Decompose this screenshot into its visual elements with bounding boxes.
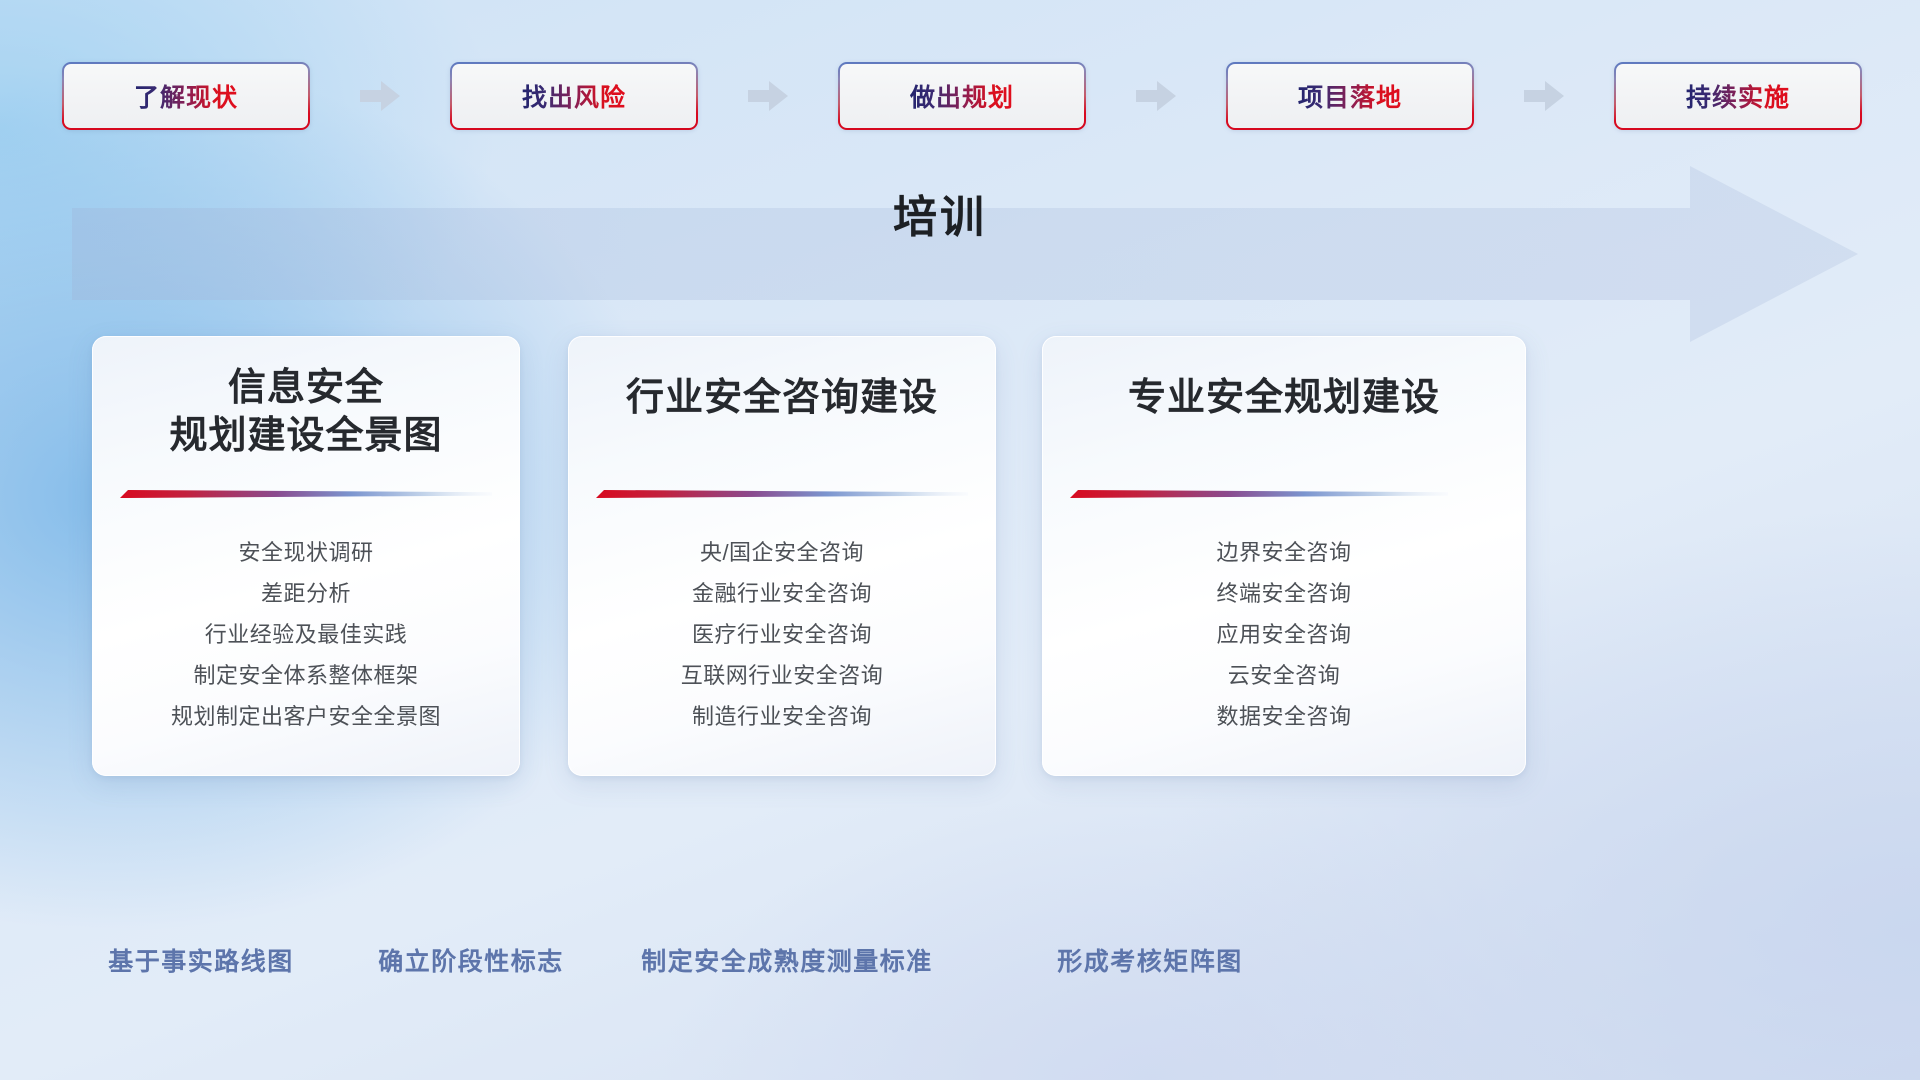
process-step-5-label: 持续实施 — [1686, 78, 1790, 114]
card-industry-security-consulting[interactable]: 行业安全咨询建设 央/国企安全咨询 金融行业安全咨询 — [568, 336, 996, 776]
banner-title: 培训 — [0, 172, 1880, 264]
list-item: 应用安全咨询 — [1042, 614, 1526, 655]
card-1-gradient-divider-icon — [120, 488, 492, 500]
card-information-security-blueprint[interactable]: 信息安全 规划建设全景图 安全现状调研 差距分析 行 — [92, 336, 520, 776]
list-item: 医疗行业安全咨询 — [568, 614, 996, 655]
process-step-5-inner: 持续实施 — [1616, 64, 1860, 128]
process-step-4-inner: 项目落地 — [1228, 64, 1472, 128]
card-3-gradient-divider-icon — [1070, 488, 1448, 500]
process-step-row: 了解现状 找出风险 做出规划 — [62, 58, 1862, 134]
card-3-title: 专业安全规划建设 — [1042, 374, 1526, 422]
process-step-1-label: 了解现状 — [134, 78, 238, 114]
card-2-title: 行业安全咨询建设 — [568, 374, 996, 422]
card-1-title: 信息安全 规划建设全景图 — [92, 364, 520, 460]
slide-canvas: 了解现状 找出风险 做出规划 — [0, 0, 1920, 1080]
process-step-3-label: 做出规划 — [910, 78, 1014, 114]
process-step-3[interactable]: 做出规划 — [838, 62, 1086, 130]
list-item: 云安全咨询 — [1042, 655, 1526, 696]
process-step-1[interactable]: 了解现状 — [62, 62, 310, 130]
card-3-item-list: 边界安全咨询 终端安全咨询 应用安全咨询 云安全咨询 数据安全咨询 — [1042, 532, 1526, 737]
card-2-item-list: 央/国企安全咨询 金融行业安全咨询 医疗行业安全咨询 互联网行业安全咨询 制造行… — [568, 532, 996, 737]
step-arrow-1 — [310, 81, 450, 111]
list-item: 边界安全咨询 — [1042, 532, 1526, 573]
process-step-2[interactable]: 找出风险 — [450, 62, 698, 130]
card-2-gradient-divider-icon — [596, 488, 968, 500]
list-item: 央/国企安全咨询 — [568, 532, 996, 573]
list-item: 行业经验及最佳实践 — [92, 614, 520, 655]
card-1-item-list: 安全现状调研 差距分析 行业经验及最佳实践 制定安全体系整体框架 规划制定出客户… — [92, 532, 520, 737]
card-professional-security-planning[interactable]: 专业安全规划建设 边界安全咨询 终端安全咨询 应用安 — [1042, 336, 1526, 776]
bottom-caption-3: 制定安全成熟度测量标准 — [641, 942, 933, 978]
list-item: 差距分析 — [92, 573, 520, 614]
list-item: 制定安全体系整体框架 — [92, 655, 520, 696]
list-item: 安全现状调研 — [92, 532, 520, 573]
bottom-caption-1: 基于事实路线图 — [108, 942, 294, 978]
process-step-2-label: 找出风险 — [522, 78, 626, 114]
process-step-5[interactable]: 持续实施 — [1614, 62, 1862, 130]
bottom-caption-4: 形成考核矩阵图 — [1057, 942, 1243, 978]
process-step-3-inner: 做出规划 — [840, 64, 1084, 128]
step-arrow-2 — [698, 81, 838, 111]
process-step-2-inner: 找出风险 — [452, 64, 696, 128]
list-item: 终端安全咨询 — [1042, 573, 1526, 614]
process-step-1-inner: 了解现状 — [64, 64, 308, 128]
list-item: 规划制定出客户安全全景图 — [92, 696, 520, 737]
list-item: 数据安全咨询 — [1042, 696, 1526, 737]
process-step-4-label: 项目落地 — [1298, 78, 1402, 114]
bottom-caption-2: 确立阶段性标志 — [378, 942, 564, 978]
process-step-4[interactable]: 项目落地 — [1226, 62, 1474, 130]
list-item: 金融行业安全咨询 — [568, 573, 996, 614]
step-arrow-4 — [1474, 81, 1614, 111]
step-arrow-3 — [1086, 81, 1226, 111]
list-item: 制造行业安全咨询 — [568, 696, 996, 737]
list-item: 互联网行业安全咨询 — [568, 655, 996, 696]
